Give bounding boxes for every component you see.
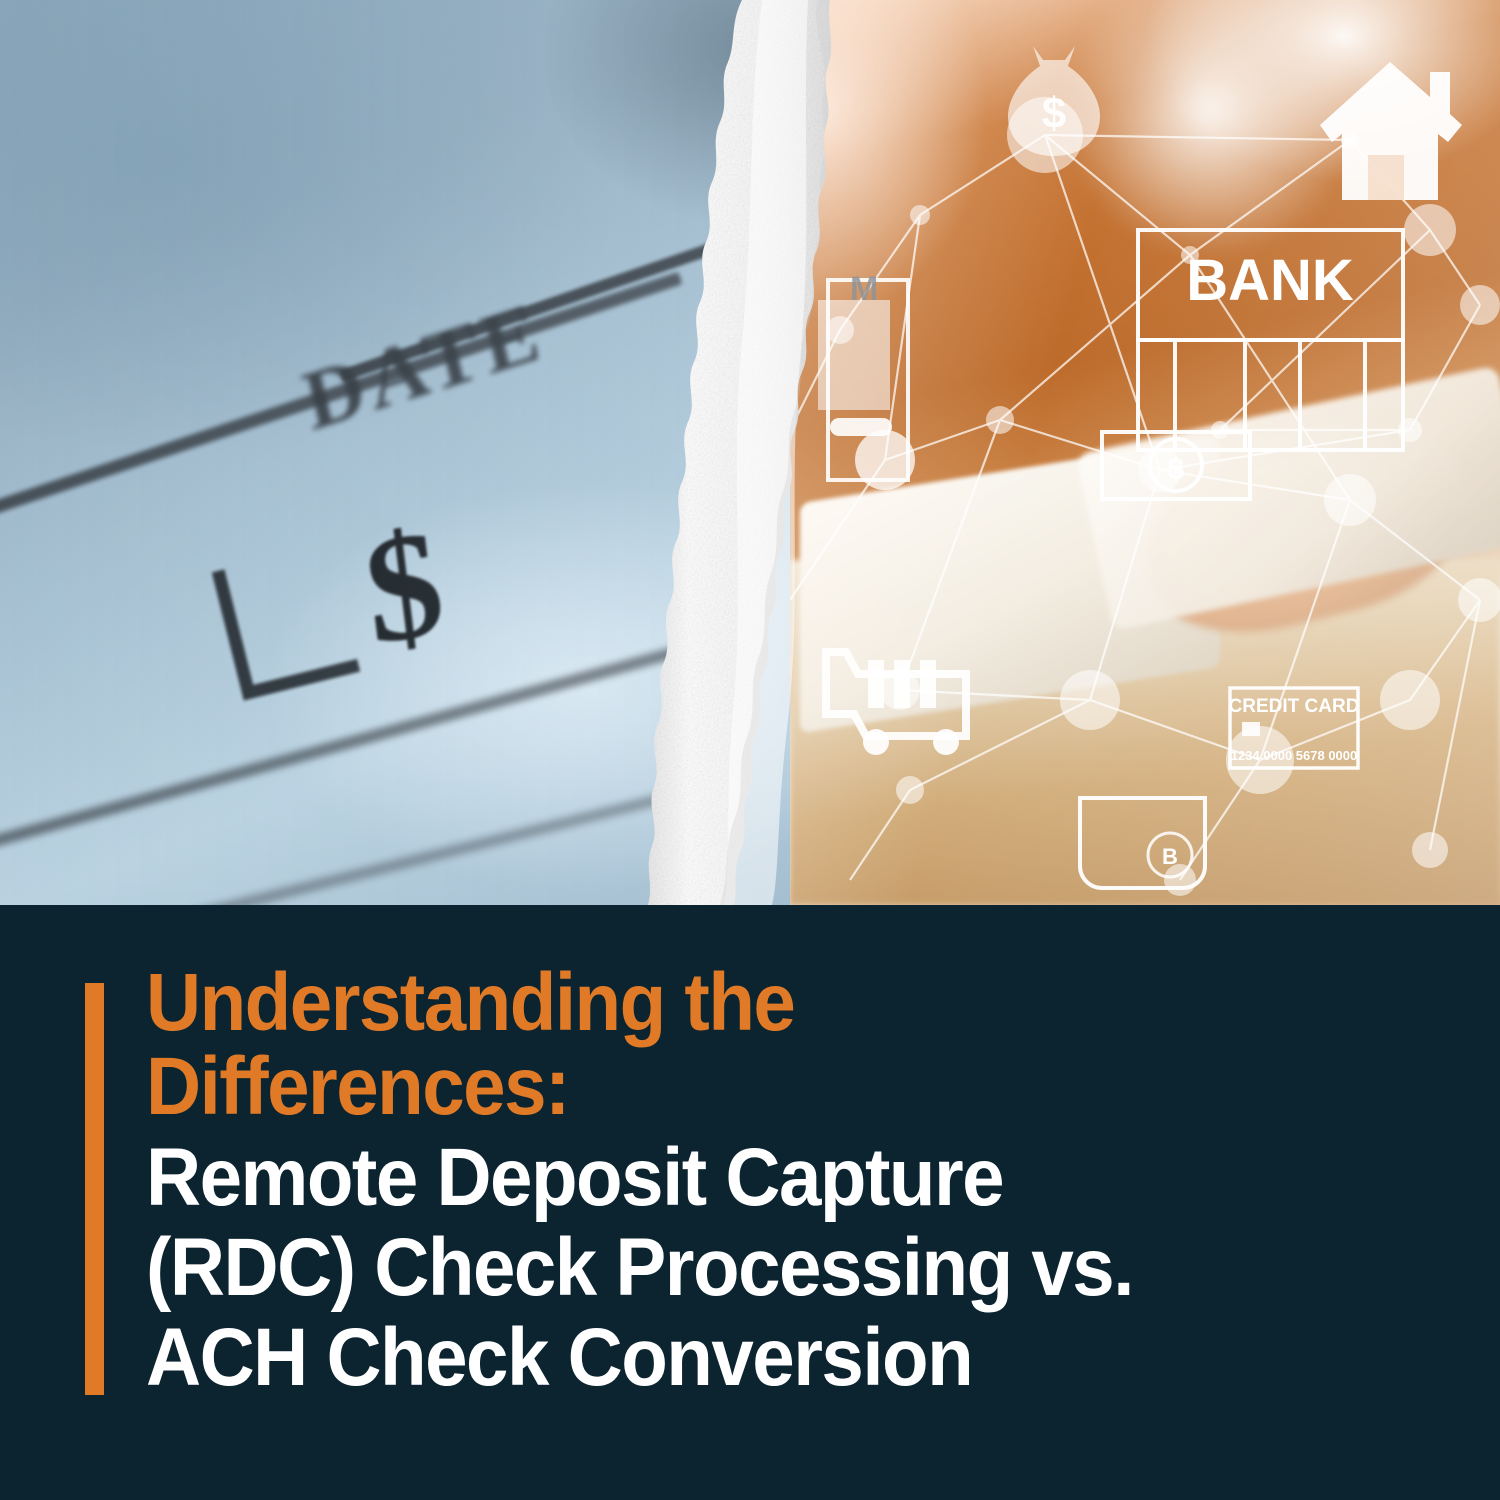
credit-card-label: CREDIT CARD xyxy=(1229,696,1360,717)
svg-text:$: $ xyxy=(1042,89,1066,138)
torn-paper-divider xyxy=(612,0,912,905)
accent-bar xyxy=(85,983,104,1395)
check-dollar-symbol: $ xyxy=(356,494,452,680)
headline-line-3: ACH Check Conversion xyxy=(146,1320,1327,1396)
check-rule-line xyxy=(0,272,682,525)
svg-text:$: $ xyxy=(1168,453,1185,486)
credit-card-number: 1234 0000 5678 0000 xyxy=(1231,748,1358,763)
headline-line-2: (RDC) Check Processing vs. xyxy=(146,1230,1327,1306)
bank-label: BANK xyxy=(1186,248,1354,313)
poster-canvas: DATE $ xyxy=(0,0,1500,1500)
bitcoin-label: B xyxy=(1162,844,1178,869)
title-block: Understanding the Differences: Remote De… xyxy=(146,965,1416,1396)
check-rule-line xyxy=(0,635,717,860)
kicker-line-2: Differences: xyxy=(146,1049,1327,1125)
headline-line-1: Remote Deposit Capture xyxy=(146,1140,1327,1216)
hero-image: DATE $ xyxy=(0,0,1500,905)
money-bag-icon: $ xyxy=(1008,46,1100,156)
house-icon xyxy=(1320,62,1462,200)
check-amount-box xyxy=(212,543,360,700)
title-band: Understanding the Differences: Remote De… xyxy=(0,905,1500,1500)
check-date-label: DATE xyxy=(294,282,552,451)
kicker-line-1: Understanding the xyxy=(146,965,1327,1041)
